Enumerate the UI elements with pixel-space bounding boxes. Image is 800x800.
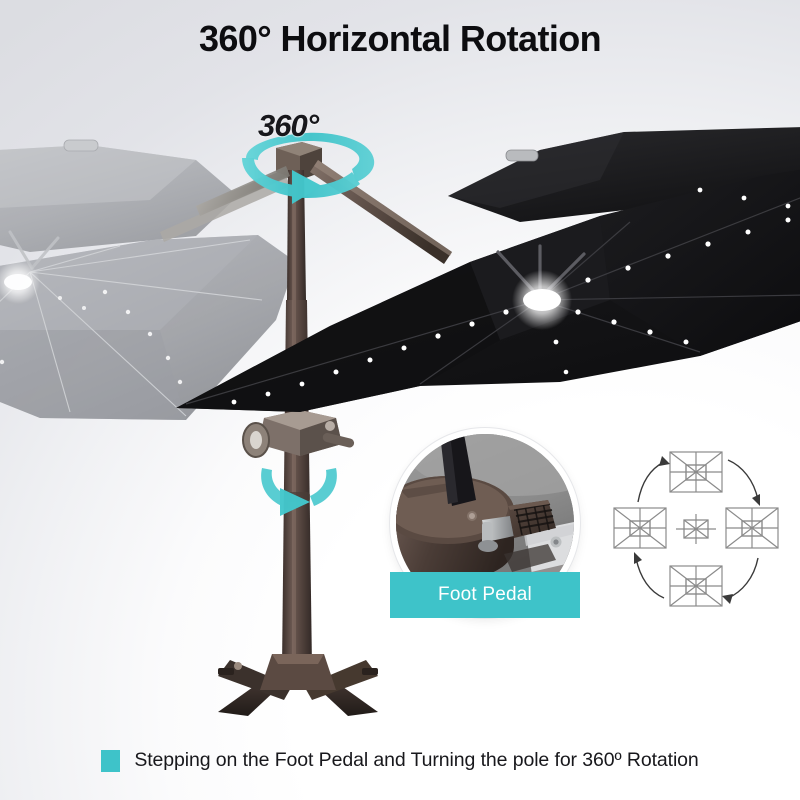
caption-text: Stepping on the Foot Pedal and Turning t… xyxy=(134,749,698,772)
foot-pedal-label: Foot Pedal xyxy=(390,572,580,618)
caption-bullet-icon xyxy=(101,750,120,772)
diagram-square-right xyxy=(726,508,778,548)
product-feature-image: 360° Horizontal Rotation xyxy=(0,0,800,800)
diagram-square-top xyxy=(670,452,722,492)
diagram-square-left xyxy=(614,508,666,548)
foot-pedal-inset: Foot Pedal xyxy=(390,428,580,618)
diagram-square-bottom xyxy=(670,566,722,606)
page-title: 360° Horizontal Rotation xyxy=(0,18,800,60)
diagram-center-pole xyxy=(676,514,716,544)
umbrella-scene-svg xyxy=(0,0,800,800)
rotation-diagram-svg xyxy=(608,446,784,616)
product-illustration xyxy=(0,0,800,800)
umbrella-cross-base xyxy=(218,654,378,716)
pole-hinge xyxy=(243,410,355,457)
feature-caption: Stepping on the Foot Pedal and Turning t… xyxy=(0,749,800,772)
rotation-badge-360: 360° xyxy=(258,108,318,144)
rotation-diagram xyxy=(608,446,784,616)
